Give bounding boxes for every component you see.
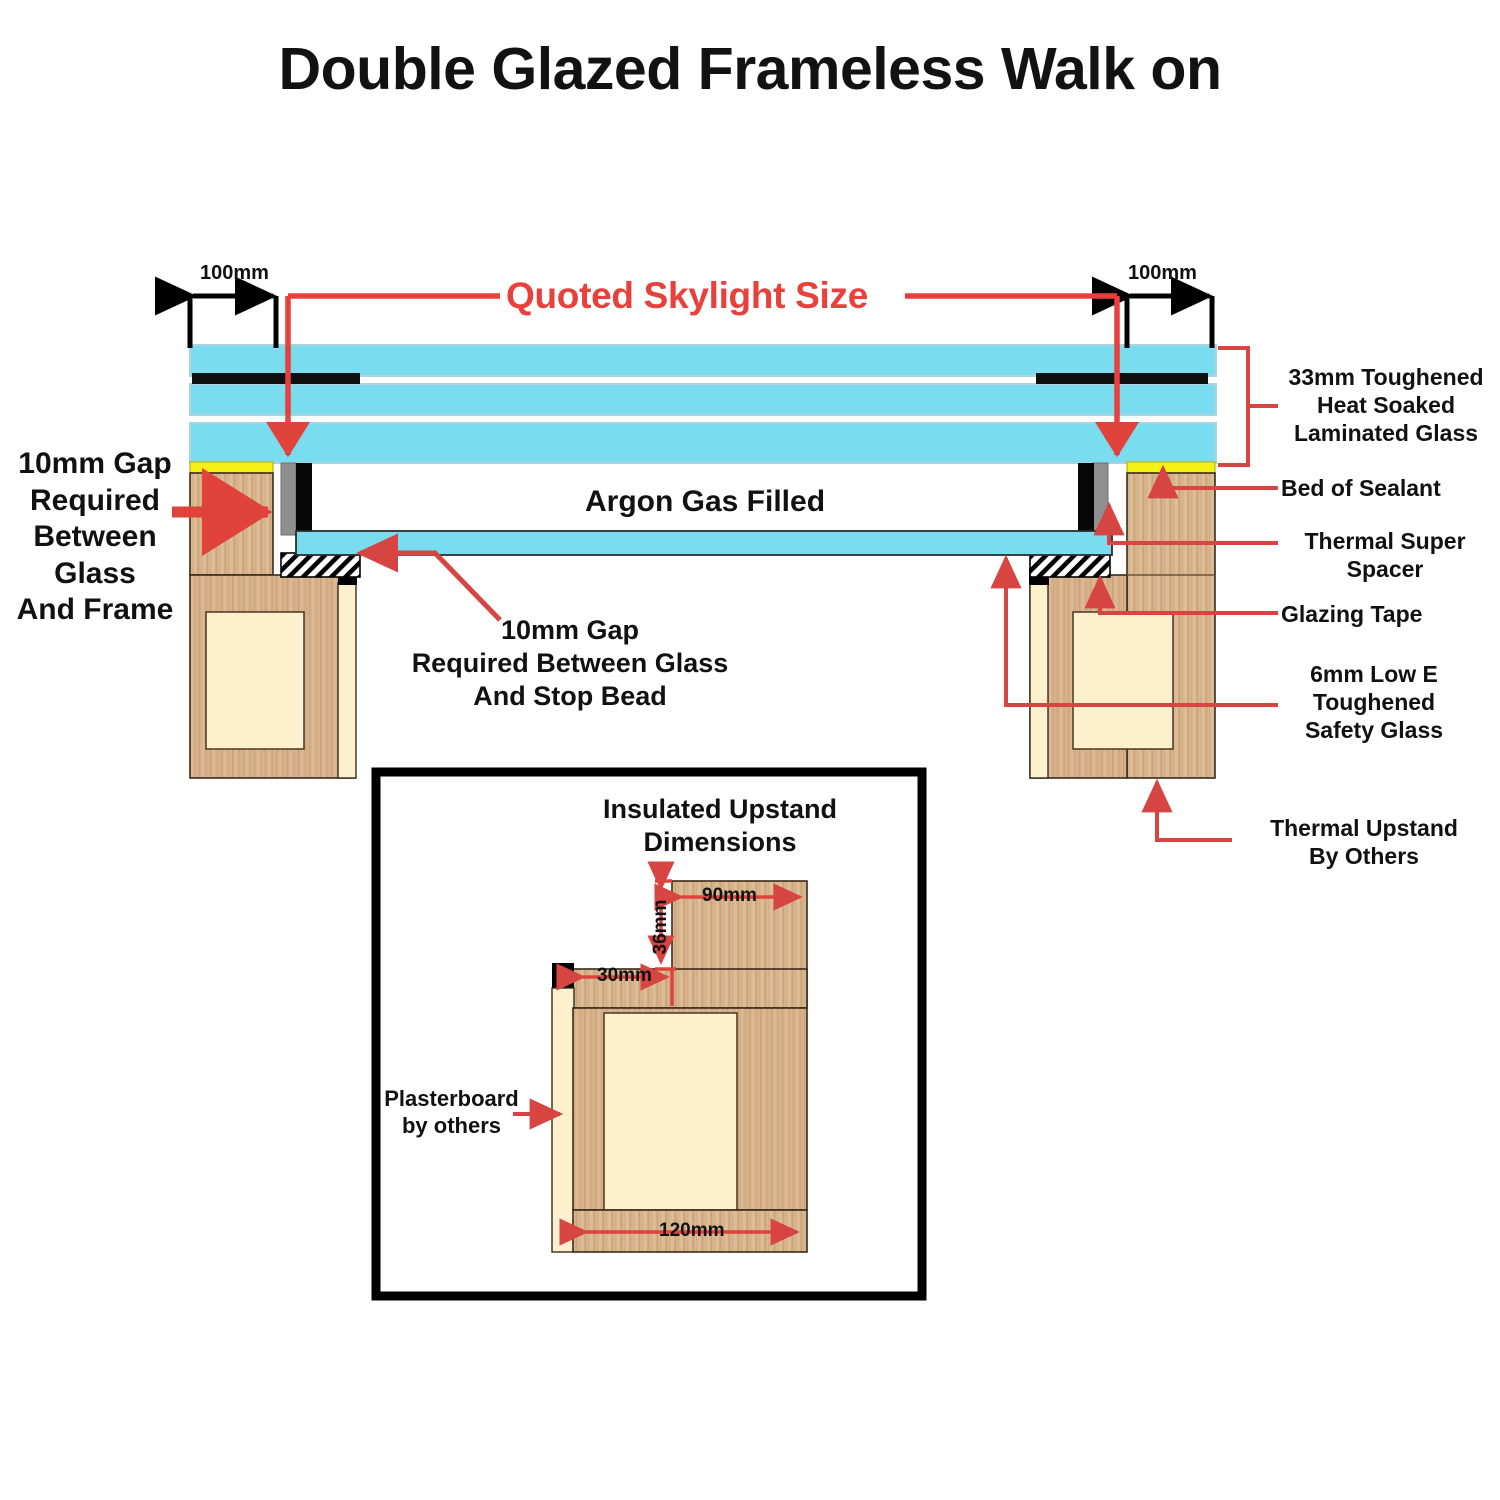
- callout-bed-of-sealant: Bed of Sealant: [1281, 474, 1441, 502]
- callout-laminated-glass: 33mm Toughened Heat Soaked Laminated Gla…: [1274, 363, 1498, 447]
- low-e-line-3: Safety Glass: [1274, 716, 1474, 744]
- callout-low-e-safety-glass: 6mm Low E Toughened Safety Glass: [1274, 660, 1474, 744]
- dimension-label-left: 100mm: [200, 262, 269, 285]
- right-glazing-tape: [1030, 553, 1110, 577]
- left-gap-line-4: Glass: [10, 556, 180, 593]
- low-e-line-2: Toughened: [1274, 688, 1474, 716]
- thermal-upstand-line-1: Thermal Upstand: [1229, 814, 1499, 842]
- stop-bead-line-2: Required Between Glass: [400, 647, 740, 680]
- low-e-line-1: 6mm Low E: [1274, 660, 1474, 688]
- left-gap-callout: 10mm Gap Required Between Glass And Fram…: [10, 446, 180, 629]
- callout-thermal-super-spacer: Thermal Super Spacer: [1274, 527, 1496, 583]
- left-spacer-assembly: [281, 463, 312, 535]
- left-gap-line-5: And Frame: [10, 592, 180, 629]
- inset-dim-36mm: 36mm: [650, 889, 672, 965]
- dimension-100mm-right: [1127, 296, 1212, 348]
- left-gap-line-3: Between: [10, 519, 180, 556]
- dimension-label-right: 100mm: [1128, 262, 1197, 285]
- inset-dim-90mm: 90mm: [702, 885, 757, 907]
- thermal-spacer-line-2: Spacer: [1274, 555, 1496, 583]
- callout-thermal-upstand: Thermal Upstand By Others: [1229, 814, 1499, 870]
- argon-gas-filled-label: Argon Gas Filled: [500, 484, 910, 521]
- left-gap-line-2: Required: [10, 483, 180, 520]
- left-glazing-tape: [281, 553, 360, 577]
- stop-bead-line-3: And Stop Bead: [400, 680, 740, 713]
- right-thermal-upstand: [1029, 462, 1215, 778]
- dimension-100mm-left: [190, 296, 276, 348]
- laminated-glass-line-3: Laminated Glass: [1274, 419, 1498, 447]
- inset-title-line-1: Insulated Upstand: [525, 793, 915, 826]
- inset-dim-120mm: 120mm: [659, 1220, 725, 1242]
- laminated-glass-line-2: Heat Soaked: [1274, 391, 1498, 419]
- inset-dim-30mm: 30mm: [597, 965, 652, 987]
- cross-section-drawing: [0, 0, 1500, 1500]
- left-gap-line-1: 10mm Gap: [10, 446, 180, 483]
- right-spacer-assembly: [1078, 463, 1108, 535]
- laminated-glass-stack: [190, 345, 1216, 463]
- laminated-glass-line-1: 33mm Toughened: [1274, 363, 1498, 391]
- plasterboard-line-1: Plasterboard: [384, 1086, 519, 1113]
- stop-bead-callout: 10mm Gap Required Between Glass And Stop…: [400, 614, 740, 713]
- inset-title-line-2: Dimensions: [525, 826, 915, 859]
- thermal-spacer-line-1: Thermal Super: [1274, 527, 1496, 555]
- stop-bead-line-1: 10mm Gap: [400, 614, 740, 647]
- plasterboard-line-2: by others: [384, 1113, 519, 1140]
- diagram-canvas: Double Glazed Frameless Walk on: [0, 0, 1500, 1500]
- thermal-upstand-line-2: By Others: [1229, 842, 1499, 870]
- callout-glazing-tape: Glazing Tape: [1281, 600, 1422, 628]
- plasterboard-callout: Plasterboard by others: [384, 1086, 519, 1140]
- quoted-skylight-size-label: Quoted Skylight Size: [506, 275, 868, 317]
- inset-title: Insulated Upstand Dimensions: [525, 793, 915, 859]
- stop-bead-leader: [360, 553, 500, 620]
